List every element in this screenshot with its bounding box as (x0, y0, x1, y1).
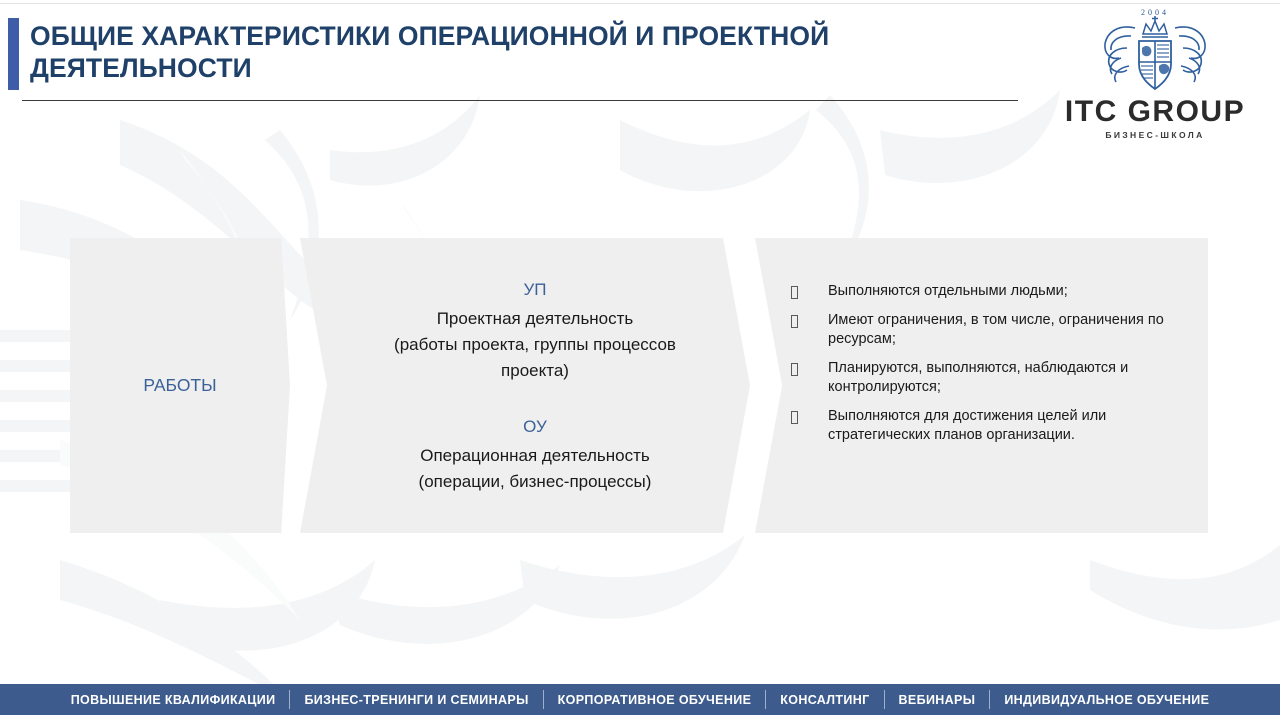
activity-type-ou-abbr: ОУ (419, 414, 652, 440)
activity-type-ou-line-2: (операции, бизнес-процессы) (419, 469, 652, 495)
diagram-box-activity-types: УП Проектная деятельность (работы проект… (300, 238, 750, 533)
list-item: Планируются, выполняются, наблюдаются и … (791, 359, 1191, 398)
activity-type-up: УП Проектная деятельность (работы проект… (394, 277, 676, 384)
activity-type-up-abbr: УП (394, 277, 676, 303)
trait-text: Имеют ограничения, в том числе, ограниче… (828, 311, 1191, 350)
activity-type-up-line-2: (работы проекта, группы процессов (394, 332, 676, 358)
footer-item-konsalting[interactable]: КОНСАЛТИНГ (766, 693, 883, 707)
footer-nav: ПОВЫШЕНИЕ КВАЛИФИКАЦИИ БИЗНЕС-ТРЕНИНГИ И… (0, 684, 1280, 715)
activity-type-up-line-3: проекта) (394, 358, 676, 384)
trait-text: Выполняются для достижения целей или стр… (828, 407, 1191, 446)
diagram-box-works: РАБОТЫ (70, 238, 290, 533)
list-item: Выполняются отдельными людьми; (791, 282, 1191, 302)
works-label: РАБОТЫ (143, 375, 216, 396)
heraldic-shield-crown-icon: 2004 (1085, 4, 1225, 96)
logo: 2004 (1055, 4, 1255, 140)
activity-type-up-line-1: Проектная деятельность (394, 306, 676, 332)
list-item: Выполняются для достижения целей или стр… (791, 407, 1191, 446)
activity-type-ou-line-1: Операционная деятельность (419, 443, 652, 469)
logo-tagline: БИЗНЕС-ШКОЛА (1055, 130, 1255, 140)
traits-list: Выполняются отдельными людьми; Имеют огр… (791, 282, 1191, 455)
footer-item-vebinary[interactable]: ВЕБИНАРЫ (885, 693, 990, 707)
footer-item-korporativnoe-obuchenie[interactable]: КОРПОРАТИВНОЕ ОБУЧЕНИЕ (544, 693, 766, 707)
footer-item-individualnoe-obuchenie[interactable]: ИНДИВИДУАЛЬНОЕ ОБУЧЕНИЕ (990, 693, 1223, 707)
missing-glyph-box-icon (791, 315, 798, 328)
trait-text: Планируются, выполняются, наблюдаются и … (828, 359, 1191, 398)
activity-type-ou: ОУ Операционная деятельность (операции, … (419, 414, 652, 495)
missing-glyph-box-icon (791, 363, 798, 376)
slide-root: ОБЩИЕ ХАРАКТЕРИСТИКИ ОПЕРАЦИОННОЙ И ПРОЕ… (0, 0, 1280, 723)
footer-item-biznes-treningi[interactable]: БИЗНЕС-ТРЕНИНГИ И СЕМИНАРЫ (290, 693, 542, 707)
missing-glyph-box-icon (791, 286, 798, 299)
footer-item-povyshenie-kvalifikacii[interactable]: ПОВЫШЕНИЕ КВАЛИФИКАЦИИ (57, 693, 290, 707)
missing-glyph-box-icon (791, 411, 798, 424)
svg-text:2004: 2004 (1141, 8, 1169, 17)
diagram-box-traits: Выполняются отдельными людьми; Имеют огр… (755, 238, 1208, 533)
list-item: Имеют ограничения, в том числе, ограниче… (791, 311, 1191, 350)
logo-wordmark: ITC GROUP (1055, 97, 1255, 127)
trait-text: Выполняются отдельными людьми; (828, 282, 1068, 302)
